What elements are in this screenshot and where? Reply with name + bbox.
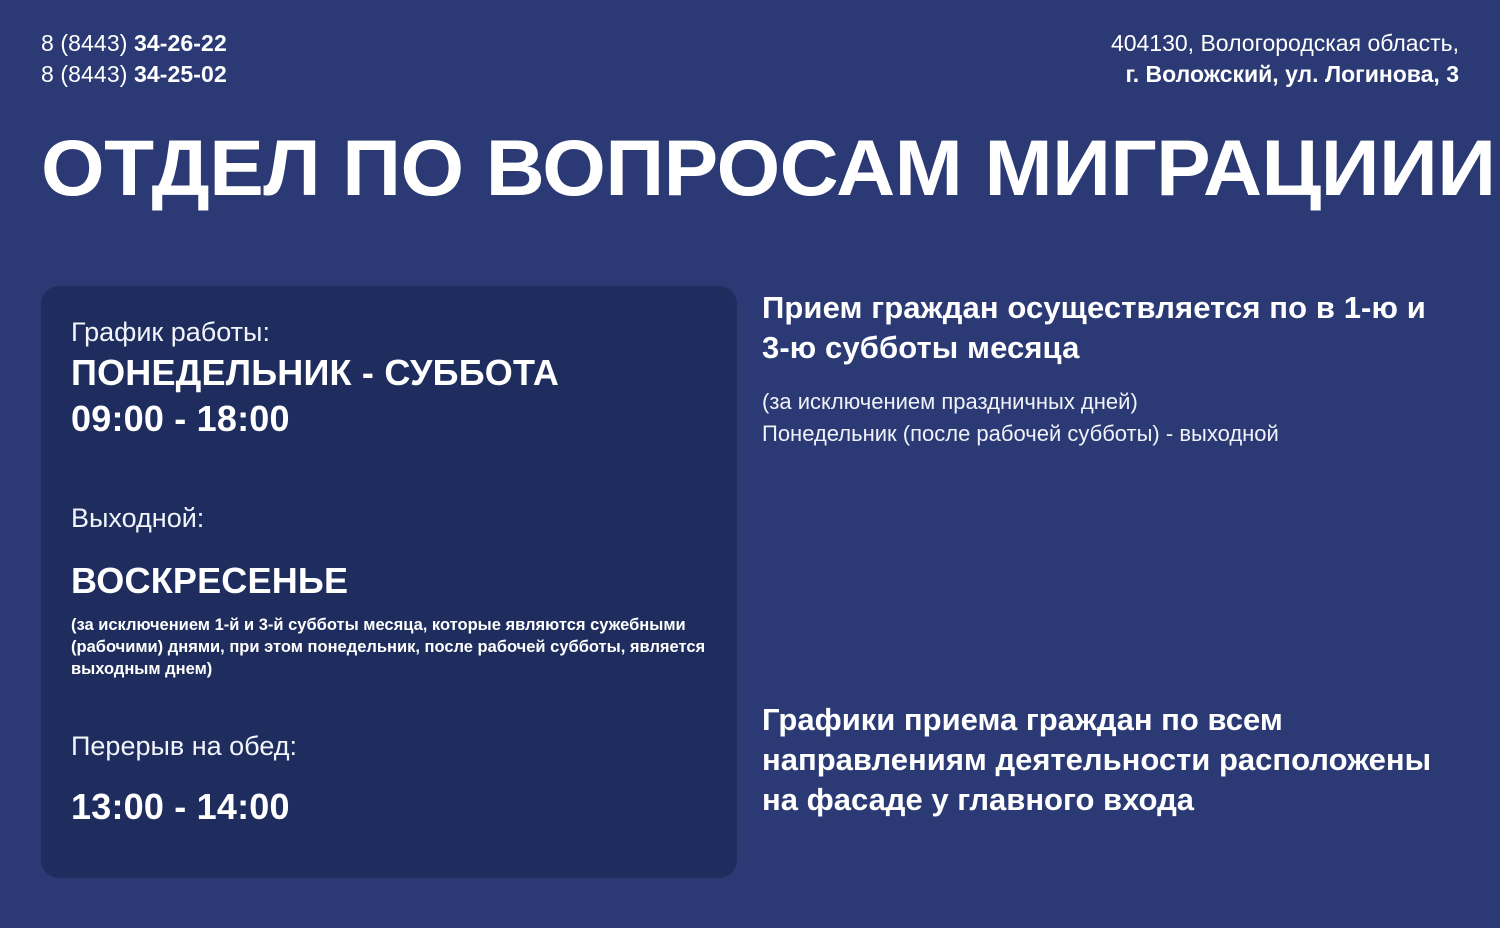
- poster-root: 8 (8443) 34-26-22 8 (8443) 34-25-02 4041…: [0, 0, 1500, 928]
- address-block: 404130, Вологородская область, г. Воложс…: [1111, 28, 1459, 90]
- reception-heading: Прием граждан осуществляется по в 1-ю и …: [762, 288, 1462, 368]
- worktime-hours: 09:00 - 18:00: [71, 396, 707, 442]
- dayoff-block: Выходной: ВОСКРЕСЕНЬЕ (за исключением 1-…: [71, 500, 707, 680]
- lunch-hours: 13:00 - 14:00: [71, 784, 707, 830]
- dayoff-note: (за исключением 1-й и 3-й субботы месяца…: [71, 614, 707, 680]
- lunch-block: Перерыв на обед: 13:00 - 14:00: [71, 728, 707, 830]
- reception-note-line-1: (за исключением праздничных дней): [762, 386, 1462, 418]
- worktime-days: ПОНЕДЕЛЬНИК - СУББОТА: [71, 350, 707, 396]
- reception-block: Прием граждан осуществляется по в 1-ю и …: [762, 288, 1462, 450]
- reception-note-line-2: Понедельник (после рабочей субботы) - вы…: [762, 418, 1462, 450]
- address-line-2: г. Воложский, ул. Логинова, 3: [1111, 59, 1459, 90]
- reception-note: (за исключением праздничных дней) Понеде…: [762, 386, 1462, 450]
- phone-line-2: 8 (8443) 34-25-02: [41, 59, 227, 90]
- schedules-info-block: Графики приема граждан по всем направлен…: [762, 700, 1472, 820]
- dayoff-label: Выходной:: [71, 500, 707, 536]
- page-title: ОТДЕЛ ПО ВОПРОСАМ МИГРАЦИИИ: [41, 122, 1500, 214]
- address-line-1: 404130, Вологородская область,: [1111, 30, 1459, 56]
- phone-prefix-2: 8 (8443): [41, 61, 127, 87]
- phone-number-1: 34-26-22: [134, 30, 227, 56]
- worktime-label: График работы:: [71, 314, 707, 350]
- phone-numbers: 8 (8443) 34-26-22 8 (8443) 34-25-02: [41, 28, 227, 90]
- lunch-label: Перерыв на обед:: [71, 728, 707, 764]
- phone-number-2: 34-25-02: [134, 61, 227, 87]
- phone-prefix-1: 8 (8443): [41, 30, 127, 56]
- dayoff-value: ВОСКРЕСЕНЬЕ: [71, 558, 707, 604]
- contact-row: 8 (8443) 34-26-22 8 (8443) 34-25-02 4041…: [41, 28, 1459, 90]
- schedule-card: График работы: ПОНЕДЕЛЬНИК - СУББОТА 09:…: [41, 286, 737, 878]
- worktime-block: График работы: ПОНЕДЕЛЬНИК - СУББОТА 09:…: [71, 314, 707, 442]
- phone-line-1: 8 (8443) 34-26-22: [41, 28, 227, 59]
